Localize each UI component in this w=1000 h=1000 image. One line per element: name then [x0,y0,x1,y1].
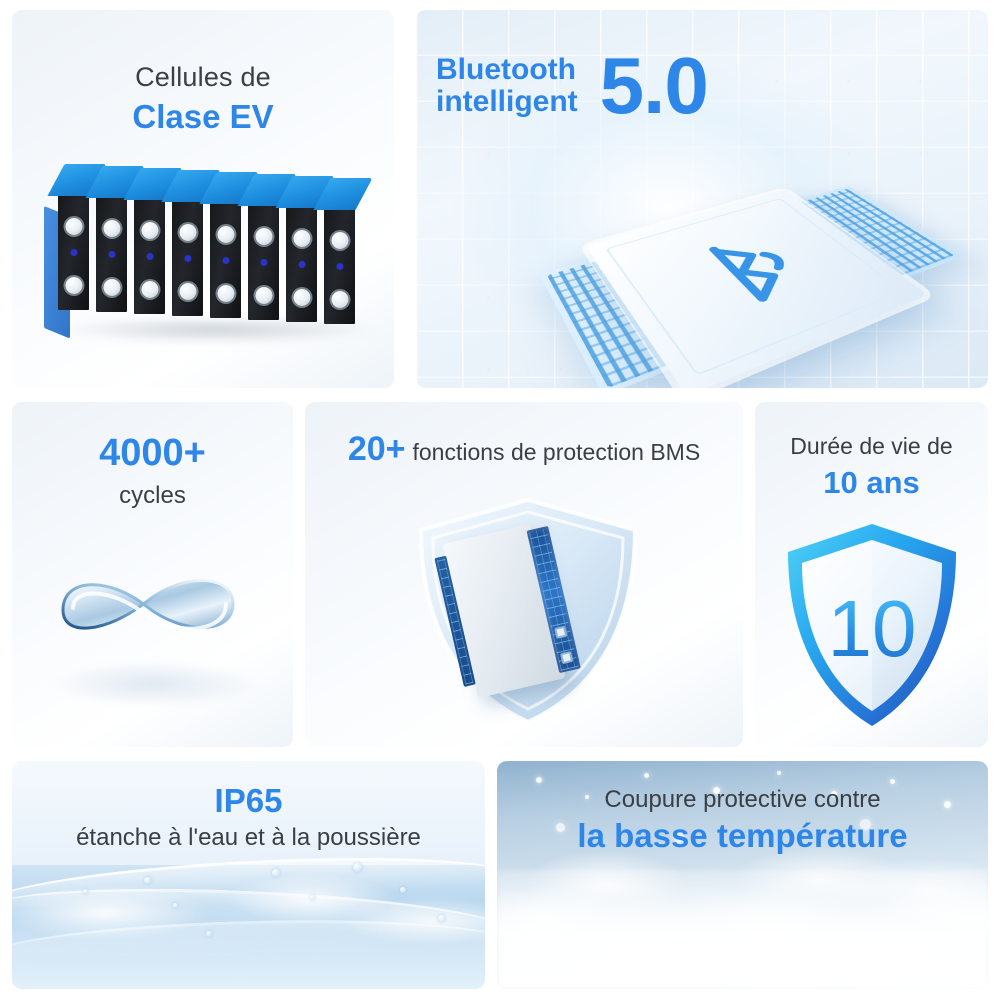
bluetooth-version: 5.0 [600,52,708,121]
cell-terminal-bottom [217,285,234,302]
snow-base [497,870,988,989]
cell-terminal-bottom [103,279,120,296]
lifespan-line2: 10 ans [755,466,988,501]
cycles-text: 4000+ cycles [12,432,293,509]
cell-indicator-dot [298,261,305,268]
battery-cell [172,198,203,316]
bms-count: 20+ [348,430,406,468]
battery-cell [248,202,279,320]
cycles-count: 4000+ [12,432,293,475]
bms-text: 20+ fonctions de protection BMS [305,430,743,468]
cell-terminal-bottom [179,283,196,300]
cell-terminal-bottom [293,289,310,306]
bms-circuit-board [442,524,565,698]
bluetooth-line2: intelligent [436,86,578,118]
cell-indicator-dot [336,263,343,270]
cell-indicator-dot [70,249,77,256]
ev-cells-text: Cellules de Clase EV [12,62,394,136]
cell-terminal-bottom [141,281,158,298]
cell-terminal-top [179,224,196,241]
snow-flake [890,779,895,784]
cell-terminal-bottom [331,291,348,308]
water-droplet [400,887,406,893]
bluetooth-text: Bluetooth intelligent 5.0 [436,52,708,121]
panel-ev-cells: Cellules de Clase EV [12,10,394,388]
cell-terminal-top [255,228,272,245]
bluetooth-chip-illustration [566,130,956,370]
infinity-reflection [50,660,260,708]
snow-flake [777,771,781,775]
ip65-text: IP65 étanche à l'eau et à la poussière [12,783,485,852]
cell-indicator-dot [146,253,153,260]
panel-lifespan: Durée de vie de 10 ans [755,402,988,747]
bms-headline: 20+ fonctions de protection BMS [305,430,743,468]
cell-indicator-dot [222,257,229,264]
cell-terminal-top [65,218,82,235]
cell-terminal-bottom [255,287,272,304]
panel-cycles: 4000+ cycles [12,402,293,747]
water-droplet [310,895,315,900]
cell-terminal-bottom [65,277,82,294]
battery-cell [134,196,165,314]
battery-cell [96,194,127,312]
low-temperature-line1: Coupure protective contre [497,787,988,814]
bluetooth-words: Bluetooth intelligent [436,54,578,119]
cell-terminal-top [103,220,120,237]
infinity-illustration [28,542,278,692]
panel-bms: 20+ fonctions de protection BMS [305,402,743,747]
cell-terminal-top [141,222,158,239]
water-droplet [83,889,88,894]
water-splash-icon [12,849,485,989]
cycles-label: cycles [12,483,293,510]
bluetooth-line1: Bluetooth [436,54,578,86]
cell-indicator-dot [108,251,115,258]
panel-bluetooth: Bluetooth intelligent 5.0 [416,10,988,388]
feature-infographic: Cellules de Clase EV [0,0,1000,1000]
cell-terminal-top [217,226,234,243]
bluetooth-icon [669,227,830,320]
ev-cells-line1: Cellules de [12,62,394,92]
battery-cell [210,200,241,318]
water-droplet [438,915,445,922]
ip65-rating: IP65 [12,783,485,820]
low-temperature-line2: la basse température [497,818,988,855]
bms-label: fonctions de protection BMS [413,440,701,466]
panel-low-temperature: Coupure protective contre la basse tempé… [497,761,988,989]
water-droplet [206,931,212,937]
ip65-label: étanche à l'eau et à la poussière [12,825,485,852]
cell-indicator-dot [260,259,267,266]
bms-shield-illustration [403,490,653,730]
panel-ip65: IP65 étanche à l'eau et à la poussière [12,761,485,989]
cell-terminal-top [331,232,348,249]
battery-cell [324,206,355,324]
water-droplet [173,903,178,908]
lifespan-text: Durée de vie de 10 ans [755,434,988,500]
lifespan-line1: Durée de vie de [755,434,988,460]
battery-cell [58,192,89,310]
battery-cells-illustration [40,150,370,350]
shield-icon: 10 [780,520,964,730]
shield-number: 10 [827,584,916,673]
water-droplet [353,863,362,872]
cell-terminal-top [293,230,310,247]
low-temperature-text: Coupure protective contre la basse tempé… [497,787,988,855]
battery-cell [286,204,317,322]
ev-cells-line2: Clase EV [12,99,394,136]
cell-indicator-dot [184,255,191,262]
